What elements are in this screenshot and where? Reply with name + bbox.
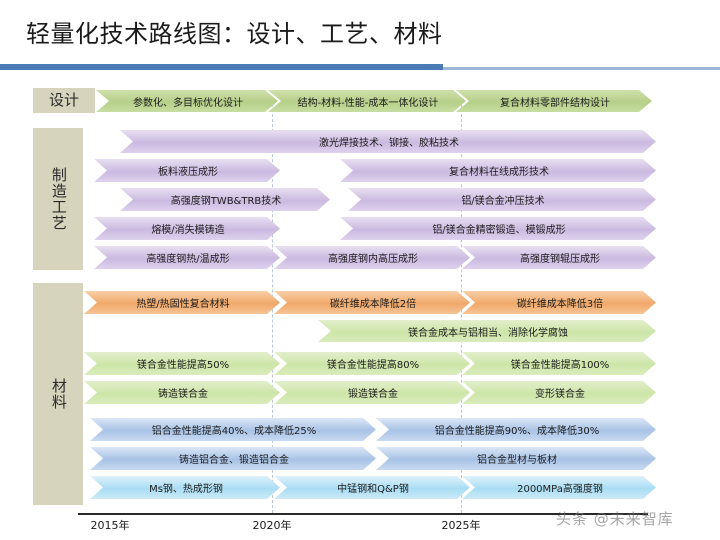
roadmap-item-label: 复合材料零部件结构设计: [500, 94, 610, 109]
watermark: 头条 @未来智库: [556, 508, 674, 529]
roadmap-item-materials-18[interactable]: 镁合金性能提高80%: [274, 352, 470, 375]
roadmap-item-label: 激光焊接技术、铆接、胶粘技术: [319, 134, 459, 149]
roadmap-item-label: 镁合金成本与铝相当、消除化学腐蚀: [408, 324, 568, 339]
roadmap-item-label: 结构-材料-性能-成本一体化设计: [298, 94, 439, 109]
roadmap-item-label: 铸造镁合金: [158, 385, 208, 400]
timeline-tick-1: 2020年: [253, 517, 292, 533]
roadmap-item-design-2[interactable]: 复合材料零部件结构设计: [456, 90, 652, 112]
roadmap-item-label: 变形镁合金: [535, 385, 585, 400]
roadmap-item-manufacturing-9[interactable]: 铝/镁合金精密锻造、模锻成形: [340, 217, 656, 240]
roadmap-item-label: 高强度钢内高压成形: [328, 250, 418, 265]
roadmap-item-manufacturing-6[interactable]: 高强度钢TWB&TRB技术: [120, 188, 330, 211]
roadmap-item-materials-16[interactable]: 镁合金成本与铝相当、消除化学腐蚀: [318, 320, 656, 342]
roadmap-item-label: 镁合金性能提高50%: [137, 356, 229, 371]
roadmap-item-label: 铝合金性能提高40%、成本降低25%: [152, 422, 316, 437]
roadmap-item-label: 镁合金性能提高80%: [327, 356, 419, 371]
roadmap-item-manufacturing-12[interactable]: 高强度钢辊压成形: [462, 246, 656, 269]
roadmap-item-materials-25[interactable]: 铸造铝合金、锻造铝合金: [90, 447, 376, 470]
category-label-manufacturing: 制造工艺: [33, 128, 83, 270]
roadmap-item-materials-28[interactable]: 中锰钢和Q&P钢: [274, 476, 470, 499]
roadmap-item-label: 铝/镁合金精密锻造、模锻成形: [432, 221, 565, 236]
roadmap-item-materials-20[interactable]: 铸造镁合金: [84, 381, 280, 404]
roadmap-item-label: 熔模/消失模铸造: [151, 221, 224, 236]
roadmap-item-label: 锻造镁合金: [348, 385, 398, 400]
roadmap-item-label: 铝合金型材与板材: [477, 451, 557, 466]
title-rule: [0, 64, 443, 70]
roadmap-item-materials-13[interactable]: 热塑/热固性复合材料: [84, 291, 280, 314]
roadmap-item-materials-22[interactable]: 变形镁合金: [462, 381, 656, 404]
roadmap-item-materials-19[interactable]: 镁合金性能提高100%: [462, 352, 656, 375]
roadmap-item-materials-29[interactable]: 2000MPa高强度钢: [462, 476, 656, 499]
roadmap-item-materials-14[interactable]: 碳纤维成本降低2倍: [274, 291, 470, 314]
roadmap-item-manufacturing-11[interactable]: 高强度钢内高压成形: [274, 246, 470, 269]
roadmap-item-materials-27[interactable]: Ms钢、热成形钢: [90, 476, 280, 499]
roadmap-item-materials-23[interactable]: 铝合金性能提高40%、成本降低25%: [90, 418, 376, 441]
roadmap-item-design-0[interactable]: 参数化、多目标优化设计: [96, 90, 278, 112]
roadmap-item-label: 碳纤维成本降低3倍: [517, 295, 603, 310]
category-label-design: 设计: [33, 88, 95, 113]
category-label-materials: 材料: [33, 283, 83, 505]
roadmap-item-materials-15[interactable]: 碳纤维成本降低3倍: [462, 291, 656, 314]
roadmap-item-label: 铝合金性能提高90%、成本降低30%: [435, 422, 599, 437]
roadmap-item-manufacturing-3[interactable]: 激光焊接技术、铆接、胶粘技术: [120, 130, 656, 153]
roadmap-item-manufacturing-5[interactable]: 复合材料在线成形技术: [340, 159, 656, 182]
roadmap-item-label: 中锰钢和Q&P钢: [337, 480, 409, 495]
roadmap-item-label: 铸造铝合金、锻造铝合金: [179, 451, 289, 466]
roadmap-item-label: 复合材料在线成形技术: [449, 163, 549, 178]
roadmap-item-manufacturing-7[interactable]: 铝/镁合金冲压技术: [348, 188, 656, 211]
roadmap-item-manufacturing-8[interactable]: 熔模/消失模铸造: [94, 217, 280, 240]
roadmap-item-label: 板料液压成形: [158, 163, 218, 178]
roadmap-item-label: Ms钢、热成形钢: [149, 480, 223, 495]
roadmap-item-label: 高强度钢TWB&TRB技术: [171, 192, 282, 207]
roadmap-item-label: 碳纤维成本降低2倍: [330, 295, 416, 310]
roadmap-item-materials-21[interactable]: 锻造镁合金: [274, 381, 470, 404]
roadmap-item-design-1[interactable]: 结构-材料-性能-成本一体化设计: [268, 90, 466, 112]
roadmap-item-materials-17[interactable]: 镁合金性能提高50%: [84, 352, 280, 375]
title-rule-secondary: [443, 67, 720, 70]
page-title: 轻量化技术路线图：设计、工艺、材料: [26, 14, 443, 49]
roadmap-item-materials-26[interactable]: 铝合金型材与板材: [376, 447, 656, 470]
timeline-tick-0: 2015年: [91, 517, 130, 533]
roadmap-item-materials-24[interactable]: 铝合金性能提高90%、成本降低30%: [376, 418, 656, 441]
roadmap-item-manufacturing-4[interactable]: 板料液压成形: [94, 159, 280, 182]
roadmap-item-label: 热塑/热固性复合材料: [136, 295, 229, 310]
timeline-tick-2: 2025年: [442, 517, 481, 533]
roadmap-item-label: 高强度钢热/温成形: [146, 250, 229, 265]
roadmap-item-label: 铝/镁合金冲压技术: [461, 192, 544, 207]
roadmap-item-label: 2000MPa高强度钢: [517, 480, 603, 495]
roadmap-slide: 轻量化技术路线图：设计、工艺、材料 设计制造工艺材料 参数化、多目标优化设计结构…: [0, 0, 720, 540]
roadmap-item-manufacturing-10[interactable]: 高强度钢热/温成形: [94, 246, 280, 269]
roadmap-item-label: 镁合金性能提高100%: [511, 356, 610, 371]
roadmap-item-label: 高强度钢辊压成形: [520, 250, 600, 265]
roadmap-item-label: 参数化、多目标优化设计: [133, 94, 243, 109]
